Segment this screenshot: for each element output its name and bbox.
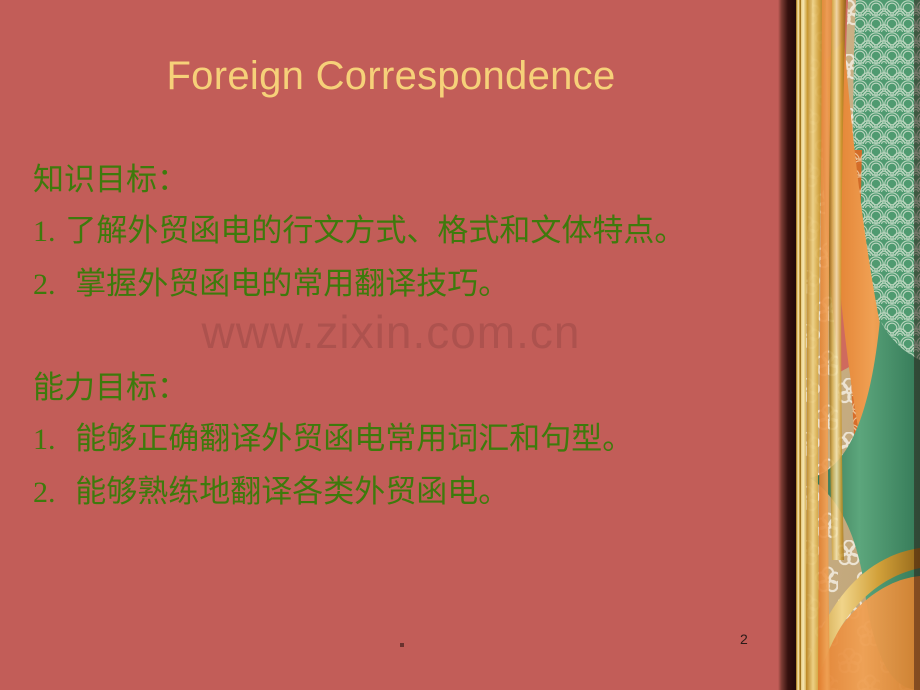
page-number: 2 xyxy=(740,631,748,647)
section-heading-ability: 能力目标： xyxy=(33,363,782,413)
list-item-number: 1. xyxy=(33,215,56,248)
list-item: 2. 能够熟练地翻译各类外贸函电。 xyxy=(33,466,782,519)
asian-floral-ribbon-graphic xyxy=(796,0,920,690)
slide-content-area: Foreign Correspondence 知识目标： 1. 了解外贸函电的行… xyxy=(0,0,782,690)
list-item-number: 1. xyxy=(33,423,56,456)
list-item-text: 掌握外贸函电的常用翻译技巧。 xyxy=(75,266,509,302)
list-item-text: 了解外贸函电的行文方式、格式和文体特点。 xyxy=(65,213,685,249)
slide-body: 知识目标： 1. 了解外贸函电的行文方式、格式和文体特点。 2. 掌握外贸函电的… xyxy=(33,155,782,519)
slide-title: Foreign Correspondence xyxy=(0,54,782,99)
list-item: 2. 掌握外贸函电的常用翻译技巧。 xyxy=(33,258,782,311)
footer-dot xyxy=(400,643,404,647)
panel-divider-shadow xyxy=(778,0,798,690)
list-item-number: 2. xyxy=(33,268,56,301)
list-item: 1. 能够正确翻译外贸函电常用词汇和句型。 xyxy=(33,413,782,466)
presentation-slide: Foreign Correspondence 知识目标： 1. 了解外贸函电的行… xyxy=(0,0,920,690)
section-heading-knowledge: 知识目标： xyxy=(33,155,782,205)
section-spacer xyxy=(33,311,782,363)
list-item-text: 能够正确翻译外贸函电常用词汇和句型。 xyxy=(75,421,633,457)
list-item-number: 2. xyxy=(33,476,56,509)
list-item: 1. 了解外贸函电的行文方式、格式和文体特点。 xyxy=(33,205,782,258)
decorative-border-panel xyxy=(796,0,920,690)
list-item-text: 能够熟练地翻译各类外贸函电。 xyxy=(75,474,509,510)
